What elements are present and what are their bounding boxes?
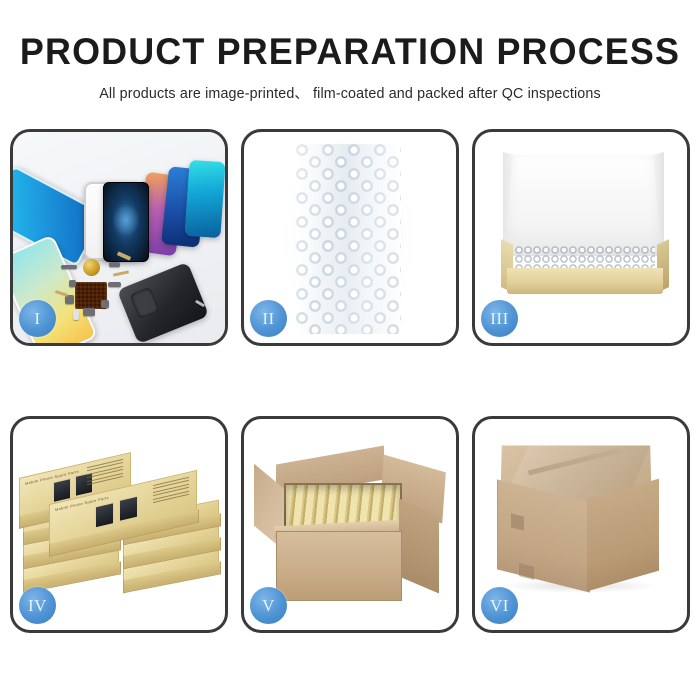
carton-body-front: [276, 531, 402, 601]
step-badge: II: [250, 300, 287, 337]
box-print-phone-image: [95, 502, 114, 528]
header: PRODUCT PREPARATION PROCESS All products…: [0, 0, 700, 103]
step-badge: I: [19, 300, 56, 337]
spare-part-chip: [69, 280, 76, 287]
panel-bubble-wrap[interactable]: II: [241, 129, 459, 346]
product-preparation-process-infographic: PRODUCT PREPARATION PROCESS All products…: [0, 0, 700, 700]
page-subtitle: All products are image-printed、 film-coa…: [0, 70, 700, 103]
spare-part-chip: [61, 265, 77, 269]
box-print-phone-image: [119, 496, 138, 522]
spare-part-chip: [101, 300, 109, 308]
carton-tape-patch: [519, 563, 534, 580]
phone-cyan-swirl: [184, 160, 225, 238]
phone-dark-screen: [103, 182, 149, 262]
step-badge: III: [481, 300, 518, 337]
carton-tape-patch: [511, 513, 524, 530]
bubble-wrap-sheet: [296, 144, 401, 334]
panel-stacked-boxes[interactable]: Mobile Phone Spare Parts Mobile Phone Sp…: [10, 416, 228, 633]
kraft-box-stack: Mobile Phone Spare Parts Mobile Phone Sp…: [19, 445, 219, 605]
carton-right-face: [587, 479, 659, 592]
spare-part-chip: [108, 282, 121, 287]
speaker-coil-part: [83, 259, 100, 276]
carton-body-right: [399, 499, 439, 594]
panel-inner-box[interactable]: III: [472, 129, 690, 346]
process-steps-grid: I II III: [10, 129, 690, 634]
box-front-wall-kraft: [507, 268, 663, 294]
step-badge: V: [250, 587, 287, 624]
step-badge: VI: [481, 587, 518, 624]
box-lid-back: [505, 155, 662, 256]
spare-part-chip: [109, 262, 120, 267]
panel-printed-products[interactable]: I: [10, 129, 228, 346]
panel-sealed-carton[interactable]: VI: [472, 416, 690, 633]
panel-open-carton[interactable]: V: [241, 416, 459, 633]
spare-part-battery: [73, 310, 79, 320]
spare-part-chip: [83, 308, 95, 316]
step-badge: IV: [19, 587, 56, 624]
page-title: PRODUCT PREPARATION PROCESS: [11, 0, 690, 70]
